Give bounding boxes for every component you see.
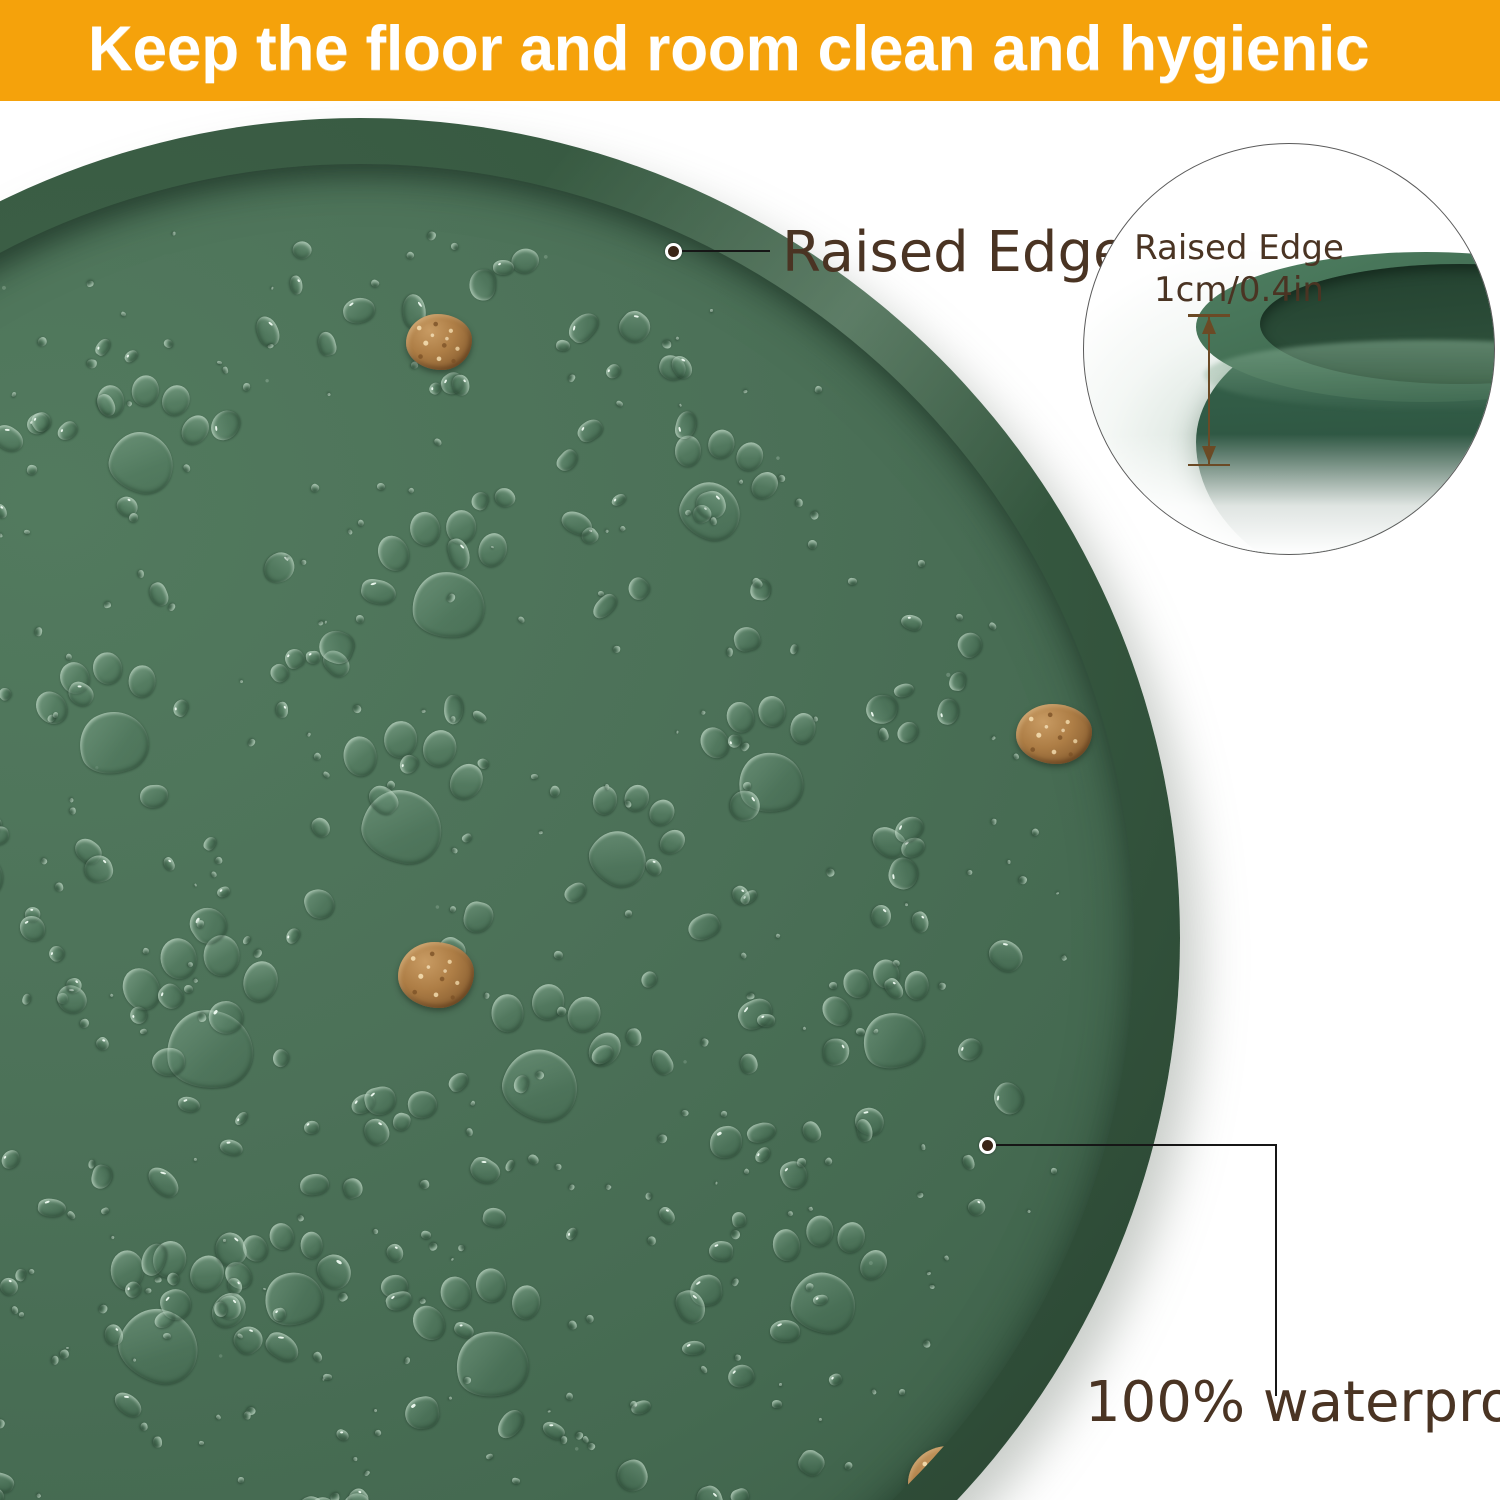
water-bead	[605, 530, 609, 534]
paw-toe-bead	[674, 435, 701, 466]
water-bead	[819, 1417, 823, 1421]
water-bead	[623, 573, 653, 603]
water-bead-glint	[460, 1324, 463, 1326]
water-bead	[955, 613, 964, 621]
water-bead	[710, 309, 713, 312]
water-bead	[300, 560, 306, 566]
water-bead	[645, 1192, 653, 1200]
water-bead	[530, 774, 537, 780]
water-bead	[59, 1349, 70, 1361]
water-bead	[317, 621, 323, 627]
banner-headline: Keep the floor and room clean and hygien…	[88, 13, 1369, 85]
water-bead	[871, 1389, 877, 1395]
waterproof-leader-line-horizontal	[996, 1144, 1277, 1146]
water-bead	[988, 622, 997, 631]
water-bead	[184, 984, 193, 993]
water-bead-glint	[233, 1300, 237, 1304]
product-feature-image: Keep the floor and room clean and hygien…	[0, 0, 1500, 1500]
water-bead-glint	[785, 1168, 789, 1173]
inset-bottom-fade	[1084, 434, 1494, 554]
water-bead	[93, 336, 113, 358]
water-bead-glint	[127, 1287, 130, 1290]
water-bead-glint	[283, 705, 286, 709]
water-bead	[561, 1436, 567, 1444]
water-bead	[743, 1168, 750, 1176]
water-bead	[199, 1440, 205, 1445]
water-bead	[789, 643, 799, 655]
water-bead	[193, 884, 197, 888]
water-bead	[568, 1183, 575, 1191]
water-bead	[347, 529, 353, 535]
water-bead	[0, 1418, 6, 1430]
paw-toe-bead	[177, 410, 215, 450]
water-bead-glint	[8, 1280, 12, 1283]
water-bead	[36, 1493, 41, 1498]
water-bead	[24, 529, 31, 534]
water-bead	[310, 483, 321, 494]
water-bead	[140, 784, 169, 808]
water-bead	[742, 389, 747, 393]
water-bead	[341, 295, 377, 325]
water-bead	[676, 730, 679, 733]
water-bead	[647, 1236, 657, 1247]
water-bead-glint	[893, 981, 897, 984]
water-bead-glint	[340, 1431, 343, 1433]
water-bead	[738, 1052, 760, 1076]
water-bead	[554, 446, 582, 475]
water-bead-glint	[161, 993, 164, 997]
water-bead	[1061, 955, 1067, 961]
water-bead-glint	[3, 1156, 6, 1160]
water-bead	[469, 270, 496, 301]
paw-toe-bead	[528, 981, 566, 1022]
water-bead	[40, 857, 49, 866]
water-bead	[619, 525, 626, 532]
water-bead-glint	[614, 498, 617, 502]
water-bead	[482, 1206, 508, 1229]
water-bead-glint	[168, 859, 172, 862]
water-bead	[726, 647, 733, 657]
water-bead-glint	[841, 1044, 845, 1049]
water-bead-glint	[713, 1492, 718, 1497]
water-bead-glint	[237, 1280, 240, 1284]
water-bead	[585, 1313, 595, 1323]
water-bead	[657, 1133, 669, 1144]
water-bead	[276, 702, 288, 718]
paw-sole-bead	[854, 1003, 932, 1078]
paw-toe-bead	[834, 1219, 868, 1256]
water-bead	[363, 1084, 399, 1118]
water-beads-layer	[0, 164, 1134, 1500]
paw-toe-bead	[266, 1220, 297, 1253]
header-banner: Keep the floor and room clean and hygien…	[0, 0, 1500, 101]
water-bead	[564, 308, 603, 347]
water-bead-glint	[882, 908, 886, 912]
water-bead	[323, 770, 331, 778]
kibble-piece	[1016, 704, 1092, 764]
water-bead-glint	[961, 1047, 964, 1051]
water-bead	[139, 1422, 148, 1432]
raised-edge-callout-label: Raised Edge	[782, 222, 1127, 284]
water-bead-glint	[1003, 943, 1009, 946]
paw-print-puddle	[687, 679, 844, 849]
water-bead	[237, 1476, 244, 1483]
water-bead-glint	[370, 582, 376, 586]
water-bead	[315, 330, 338, 357]
paw-toe-bead	[838, 965, 874, 1002]
water-bead	[377, 483, 385, 490]
water-bead	[19, 915, 45, 942]
water-bead	[28, 1268, 35, 1275]
paw-toe-bead	[239, 957, 281, 1005]
paw-toe-bead	[856, 1245, 893, 1284]
water-bead-glint	[268, 321, 273, 326]
water-bead	[795, 1446, 829, 1480]
water-bead	[448, 905, 456, 913]
water-bead	[927, 1271, 932, 1275]
water-bead	[373, 1229, 379, 1235]
water-bead	[303, 1120, 319, 1135]
water-bead	[353, 1457, 357, 1461]
water-bead	[466, 1152, 504, 1188]
water-bead	[770, 1320, 800, 1342]
water-bead	[408, 487, 415, 494]
water-bead	[0, 685, 13, 702]
water-bead-glint	[460, 544, 465, 549]
water-bead	[675, 336, 679, 340]
water-bead	[37, 1197, 67, 1218]
paw-toe-bead	[805, 1215, 834, 1247]
water-bead-glint	[394, 1246, 398, 1249]
water-bead	[51, 1355, 59, 1365]
paw-toe-bead	[372, 531, 414, 576]
water-bead	[242, 382, 251, 391]
paw-toe-bead	[157, 935, 201, 982]
water-bead-glint	[608, 369, 611, 373]
water-bead	[162, 338, 174, 350]
water-bead	[357, 519, 365, 527]
water-bead	[684, 910, 723, 945]
water-bead	[201, 834, 218, 852]
water-bead-glint	[417, 301, 422, 307]
water-bead	[848, 578, 858, 586]
water-bead-glint	[652, 861, 655, 864]
water-bead	[827, 1372, 844, 1388]
water-bead	[679, 404, 682, 407]
water-bead	[614, 306, 656, 348]
water-bead-glint	[237, 1118, 240, 1121]
water-bead	[568, 373, 577, 383]
water-bead	[815, 385, 824, 394]
water-bead	[458, 1244, 465, 1251]
water-bead-glint	[358, 1491, 362, 1494]
water-bead	[21, 992, 33, 1006]
water-bead-glint	[275, 1310, 279, 1314]
water-bead	[539, 831, 543, 834]
water-bead-glint	[278, 1337, 284, 1339]
water-bead	[461, 899, 496, 936]
water-bead	[656, 1205, 678, 1227]
waterproof-marker-dot	[979, 1137, 996, 1154]
water-bead	[420, 1230, 432, 1241]
water-bead	[638, 969, 659, 990]
water-bead	[772, 1400, 782, 1408]
paw-toe-bead	[731, 437, 767, 474]
water-bead-glint	[581, 427, 585, 432]
water-bead	[121, 311, 127, 317]
water-bead-glint	[51, 952, 54, 955]
paw-toe-bead	[723, 699, 758, 736]
water-bead	[556, 339, 571, 353]
water-bead-glint	[297, 279, 300, 283]
water-bead	[493, 260, 514, 275]
water-bead	[965, 1196, 988, 1219]
water-bead	[307, 733, 312, 738]
water-bead	[843, 1461, 854, 1472]
paw-toe-bead	[475, 530, 511, 570]
paw-sole-bead	[0, 843, 10, 913]
water-bead-glint	[681, 359, 685, 363]
water-bead-glint	[714, 1244, 718, 1247]
paw-toe-bead	[510, 1284, 541, 1321]
water-bead	[811, 512, 819, 521]
water-bead-glint	[997, 1095, 1000, 1100]
water-bead	[161, 856, 177, 873]
paw-print-puddle	[452, 963, 640, 1165]
dimension-line	[1208, 314, 1210, 466]
water-bead	[486, 1453, 494, 1460]
water-bead	[216, 886, 231, 899]
water-bead	[700, 1038, 709, 1048]
water-bead-glint	[716, 1131, 722, 1136]
water-bead	[699, 1365, 708, 1375]
paw-sole-bead	[494, 1041, 586, 1128]
water-bead	[36, 336, 47, 347]
paw-toe-bead	[127, 665, 155, 698]
paw-print-puddle	[67, 359, 224, 529]
water-bead	[935, 696, 962, 727]
water-bead	[1031, 828, 1041, 838]
paw-print-puddle	[315, 704, 497, 904]
water-bead-glint	[377, 1122, 382, 1126]
water-bead-glint	[355, 1100, 359, 1104]
raised-edge-detail-inset: Raised Edge 1cm/0.4in	[1083, 143, 1495, 555]
water-bead	[1051, 1167, 1058, 1174]
water-bead-glint	[34, 418, 37, 422]
water-bead-glint	[431, 388, 433, 391]
water-bead-glint	[411, 1402, 417, 1407]
water-bead	[745, 1119, 779, 1147]
water-bead-glint	[233, 1238, 239, 1243]
water-bead	[406, 1088, 440, 1120]
water-bead	[12, 391, 18, 397]
water-bead	[223, 366, 230, 374]
water-bead-glint	[287, 655, 290, 659]
water-bead-glint	[308, 653, 312, 656]
water-bead	[864, 693, 898, 726]
water-bead	[917, 560, 924, 568]
water-bead	[504, 1159, 516, 1173]
paw-sole-bead	[409, 568, 488, 641]
water-bead	[327, 393, 331, 397]
water-bead	[553, 950, 564, 960]
water-bead-glint	[692, 1295, 698, 1300]
water-bead	[122, 347, 139, 364]
water-bead	[215, 856, 223, 864]
paw-toe-bead	[29, 686, 73, 730]
water-bead	[66, 1347, 70, 1350]
paw-toe-bead	[158, 381, 194, 419]
water-bead	[899, 612, 925, 635]
water-bead-glint	[549, 1424, 553, 1426]
water-bead	[587, 1442, 597, 1452]
water-bead	[383, 1241, 407, 1266]
paw-print-puddle	[805, 939, 966, 1110]
water-bead	[814, 716, 819, 722]
water-bead-glint	[183, 1098, 187, 1101]
water-bead	[359, 1114, 394, 1150]
raised-edge-marker-dot	[665, 243, 682, 260]
kibble-piece	[406, 314, 472, 370]
paw-toe-bead	[746, 467, 783, 504]
water-bead	[406, 251, 416, 261]
paw-toe-bead	[561, 992, 604, 1037]
water-bead-glint	[898, 826, 902, 831]
water-bead	[104, 602, 112, 609]
water-bead	[961, 1154, 976, 1172]
paw-sole-bead	[580, 822, 656, 896]
water-bead	[248, 738, 257, 748]
water-bead	[988, 1078, 1030, 1120]
water-bead-glint	[349, 302, 354, 307]
water-bead-glint	[226, 1141, 230, 1143]
water-bead	[715, 1181, 717, 1184]
water-bead-glint	[977, 1201, 981, 1204]
water-bead	[922, 1340, 931, 1348]
water-bead	[905, 903, 908, 907]
paw-toe-bead	[406, 1300, 451, 1347]
water-bead-glint	[573, 325, 576, 331]
paw-toe-bead	[382, 719, 419, 760]
water-bead	[966, 870, 972, 876]
water-bead	[330, 1492, 340, 1500]
water-bead	[0, 420, 28, 456]
water-bead-glint	[777, 1323, 782, 1327]
paw-print-puddle	[267, 1478, 424, 1500]
water-bead	[991, 818, 997, 824]
water-bead	[100, 1207, 109, 1215]
water-bead-glint	[678, 427, 681, 432]
water-bead	[299, 1172, 330, 1197]
water-bead-glint	[219, 889, 223, 893]
water-bead	[909, 909, 931, 934]
water-bead-glint	[696, 1280, 702, 1285]
water-bead	[1056, 892, 1060, 895]
water-bead	[34, 627, 43, 637]
water-bead	[662, 341, 672, 349]
paw-toe-bead	[300, 1231, 324, 1260]
water-bead	[167, 602, 176, 612]
water-bead	[731, 1211, 748, 1228]
water-bead	[374, 1429, 382, 1437]
waterproof-callout-label: 100% waterproof	[1085, 1372, 1500, 1434]
water-bead	[0, 533, 3, 538]
water-bead	[14, 1268, 27, 1283]
water-bead	[451, 1257, 455, 1261]
water-bead	[867, 902, 894, 930]
water-bead	[681, 1109, 689, 1117]
water-bead	[25, 464, 37, 476]
water-bead-glint	[97, 346, 99, 349]
water-bead	[604, 361, 624, 381]
water-bead	[829, 982, 837, 989]
water-bead	[217, 360, 222, 364]
water-bead	[55, 882, 64, 892]
water-bead	[734, 993, 778, 1034]
paw-toe-bead	[620, 781, 653, 816]
water-bead	[826, 868, 836, 878]
water-bead	[0, 1148, 22, 1172]
water-bead-glint	[76, 980, 80, 984]
water-bead-glint	[5, 428, 10, 431]
mat-inner-surface	[0, 164, 1134, 1500]
water-bead	[574, 415, 606, 445]
water-bead-glint	[391, 1295, 395, 1299]
paw-toe-bead	[704, 427, 736, 462]
water-bead	[740, 952, 747, 959]
water-bead	[725, 1361, 757, 1391]
water-bead	[613, 1456, 652, 1496]
water-bead-glint	[24, 920, 28, 924]
water-bead-glint	[126, 354, 129, 358]
water-bead	[548, 1410, 551, 1413]
paw-toe-bead	[904, 971, 928, 1000]
pet-food-mat	[0, 118, 1180, 1500]
water-bead	[341, 1176, 365, 1201]
water-bead	[426, 230, 437, 242]
water-bead	[921, 1144, 926, 1151]
water-bead	[930, 1285, 935, 1289]
water-bead-glint	[370, 1092, 375, 1097]
water-bead	[55, 418, 81, 444]
water-bead	[777, 1157, 812, 1193]
water-bead	[433, 437, 443, 447]
water-bead	[730, 1277, 740, 1287]
paw-toe-bead	[418, 726, 461, 772]
water-bead	[283, 926, 302, 946]
water-bead-glint	[498, 262, 502, 265]
water-bead	[564, 1226, 579, 1242]
water-bead	[729, 1228, 742, 1241]
water-bead-glint	[732, 1370, 736, 1374]
water-bead	[752, 1145, 772, 1165]
water-bead-glint	[402, 764, 404, 767]
water-bead-glint	[921, 914, 925, 918]
water-bead-glint	[687, 1343, 691, 1347]
water-bead-glint	[102, 859, 107, 864]
water-bead	[797, 1157, 807, 1167]
dimension-arrowhead-down	[1202, 446, 1216, 463]
water-bead	[984, 934, 1028, 978]
water-bead	[312, 1350, 324, 1363]
water-bead	[799, 1118, 825, 1145]
water-bead	[527, 1152, 541, 1166]
water-bead-glint	[175, 708, 177, 711]
water-bead	[18, 1311, 24, 1317]
water-bead	[391, 1110, 413, 1133]
water-bead	[892, 681, 915, 700]
water-bead	[422, 709, 426, 713]
